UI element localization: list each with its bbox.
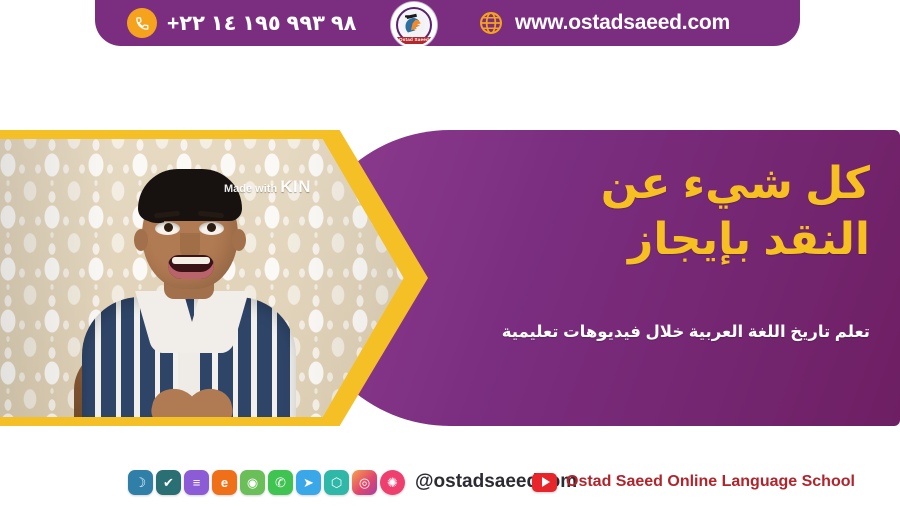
poster-canvas: +٩٨ ٩٩٣ ١٩٥ ١٤ ٢٢ Ostad Saeed bbox=[0, 0, 900, 506]
watermark-brand: KIN bbox=[280, 177, 311, 196]
rubika-icon[interactable]: ⬡ bbox=[324, 470, 349, 495]
kinemaster-watermark: Made with KIN bbox=[224, 177, 311, 197]
bisphone-icon[interactable]: ✺ bbox=[380, 470, 405, 495]
presenter-pupil-left bbox=[164, 223, 173, 232]
instagram-icon[interactable]: ◎ bbox=[352, 470, 377, 495]
youtube-play-icon bbox=[532, 473, 557, 492]
whatsapp-icon[interactable]: ✆ bbox=[268, 470, 293, 495]
watermark-prefix: Made with bbox=[224, 183, 280, 195]
phone-number: +٩٨ ٩٩٣ ١٩٥ ١٤ ٢٢ bbox=[167, 0, 356, 46]
headline-line-1: كل شيء عن bbox=[601, 159, 870, 208]
telegram-icon[interactable]: ➤ bbox=[296, 470, 321, 495]
headline-line-2: النقد بإيجاز bbox=[350, 212, 870, 268]
presenter-pupil-right bbox=[207, 223, 216, 232]
presenter-ear-left bbox=[134, 229, 148, 251]
soroush-icon[interactable]: ☽ bbox=[128, 470, 153, 495]
youtube-channel-block[interactable]: Ostad Saeed Online Language School bbox=[532, 458, 855, 506]
bale-icon[interactable]: ✔ bbox=[156, 470, 181, 495]
globe-icon bbox=[478, 10, 504, 36]
contact-header-bar: +٩٨ ٩٩٣ ١٩٥ ١٤ ٢٢ Ostad Saeed bbox=[95, 0, 800, 46]
footer: ☽ ✔ ≡ e ◉ ✆ ➤ ⬡ ◎ ✺ @ostadsaeedcom Ostad… bbox=[0, 458, 900, 506]
presenter-teeth bbox=[172, 257, 210, 264]
phone-icon bbox=[127, 8, 157, 38]
youtube-channel-name: Ostad Saeed Online Language School bbox=[566, 473, 855, 491]
social-icon-row: ☽ ✔ ≡ e ◉ ✆ ➤ ⬡ ◎ ✺ @ostadsaeedcom bbox=[128, 458, 577, 506]
brand-logo: Ostad Saeed bbox=[391, 2, 437, 48]
website-url[interactable]: www.ostadsaeed.com bbox=[515, 0, 730, 46]
gap-icon[interactable]: ≡ bbox=[184, 470, 209, 495]
presenter-ear-right bbox=[232, 229, 246, 251]
eitaa-icon[interactable]: e bbox=[212, 470, 237, 495]
logo-label: Ostad Saeed bbox=[393, 37, 435, 44]
play-triangle bbox=[542, 477, 550, 487]
igap-icon[interactable]: ◉ bbox=[240, 470, 265, 495]
video-arrow-frame: Made with KIN bbox=[0, 130, 428, 426]
headline: كل شيء عن النقد بإيجاز bbox=[350, 156, 870, 269]
subtitle: تعلم تاريخ اللغة العربية خلال فيديوهات ت… bbox=[350, 322, 870, 342]
